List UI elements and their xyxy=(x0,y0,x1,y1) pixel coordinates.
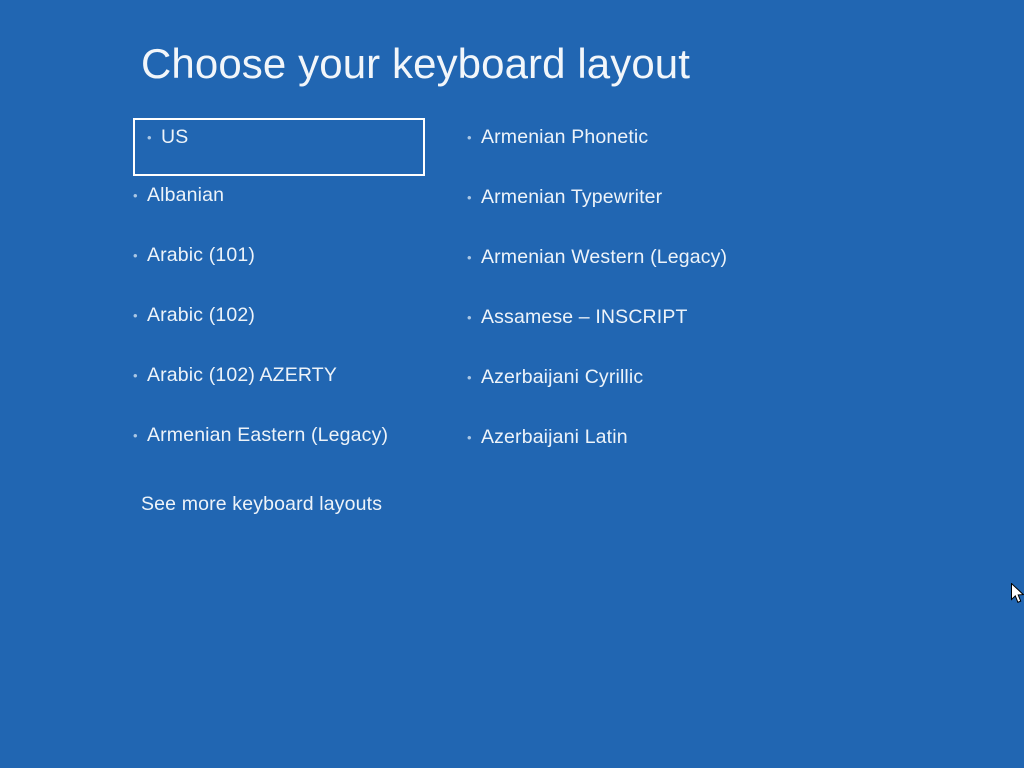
keyboard-layout-option-label: Armenian Typewriter xyxy=(481,185,662,209)
keyboard-layout-option[interactable]: •Armenian Eastern (Legacy) xyxy=(133,416,425,476)
keyboard-layout-option-label: Azerbaijani Latin xyxy=(481,425,628,449)
keyboard-layout-column-right: •Armenian Phonetic•Armenian Typewriter•A… xyxy=(463,118,793,478)
arrow-pointer-icon xyxy=(1011,583,1024,605)
bullet-icon: • xyxy=(467,134,481,142)
bullet-icon: • xyxy=(467,434,481,442)
keyboard-layout-option-label: US xyxy=(161,125,188,149)
keyboard-layout-option[interactable]: •Azerbaijani Cyrillic xyxy=(463,358,793,418)
keyboard-layout-option[interactable]: •Arabic (102) xyxy=(133,296,425,356)
bullet-icon: • xyxy=(133,192,147,200)
keyboard-layout-option-label: Azerbaijani Cyrillic xyxy=(481,365,643,389)
keyboard-layout-column-left: •US•Albanian•Arabic (101)•Arabic (102)•A… xyxy=(133,118,425,476)
keyboard-layout-option[interactable]: •Assamese – INSCRIPT xyxy=(463,298,793,358)
bullet-icon: • xyxy=(133,312,147,320)
keyboard-layout-option[interactable]: •Armenian Phonetic xyxy=(463,118,793,178)
bullet-icon: • xyxy=(133,372,147,380)
keyboard-layout-option-label: Arabic (102) AZERTY xyxy=(147,363,337,387)
bullet-icon: • xyxy=(467,374,481,382)
keyboard-layout-option[interactable]: •US xyxy=(133,118,425,176)
keyboard-layout-option-label: Armenian Eastern (Legacy) xyxy=(147,423,388,447)
bullet-icon: • xyxy=(467,314,481,322)
keyboard-layout-screen: Choose your keyboard layout •US•Albanian… xyxy=(0,0,1024,768)
keyboard-layout-option-label: Armenian Western (Legacy) xyxy=(481,245,727,269)
bullet-icon: • xyxy=(467,254,481,262)
see-more-keyboard-layouts-link[interactable]: See more keyboard layouts xyxy=(141,492,382,516)
bullet-icon: • xyxy=(133,252,147,260)
keyboard-layout-option[interactable]: •Armenian Western (Legacy) xyxy=(463,238,793,298)
keyboard-layout-option-label: Assamese – INSCRIPT xyxy=(481,305,688,329)
bullet-icon: • xyxy=(147,134,161,142)
keyboard-layout-option[interactable]: •Arabic (102) AZERTY xyxy=(133,356,425,416)
bullet-icon: • xyxy=(133,432,147,440)
keyboard-layout-option[interactable]: •Arabic (101) xyxy=(133,236,425,296)
keyboard-layout-option-label: Armenian Phonetic xyxy=(481,125,648,149)
keyboard-layout-option-label: Arabic (102) xyxy=(147,303,255,327)
keyboard-layout-option[interactable]: •Armenian Typewriter xyxy=(463,178,793,238)
keyboard-layout-option-label: Arabic (101) xyxy=(147,243,255,267)
keyboard-layout-option[interactable]: •Azerbaijani Latin xyxy=(463,418,793,478)
page-title: Choose your keyboard layout xyxy=(141,38,690,90)
keyboard-layout-option-label: Albanian xyxy=(147,183,224,207)
keyboard-layout-option[interactable]: •Albanian xyxy=(133,176,425,236)
bullet-icon: • xyxy=(467,194,481,202)
